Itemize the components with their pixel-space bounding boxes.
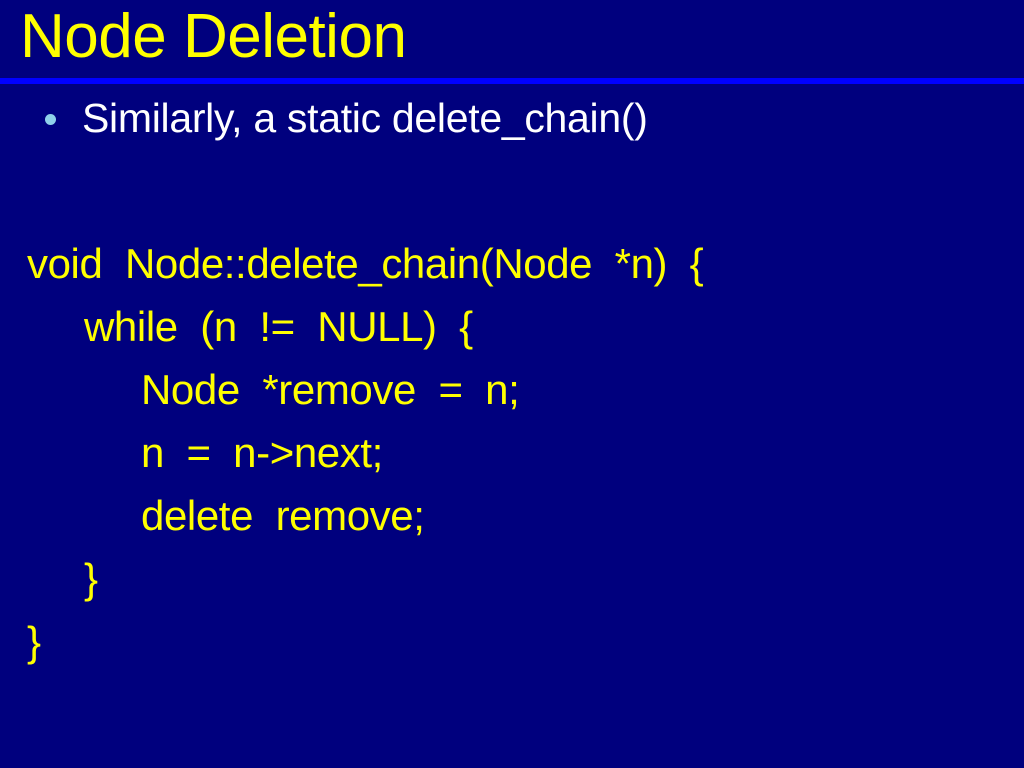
slide-title-block: Node Deletion [0,0,1024,78]
title-divider-rule [0,78,1024,84]
code-line: delete remove; [0,484,1024,547]
page-title: Node Deletion [20,0,406,76]
bullet-text: Similarly, a static delete_chain() [82,92,1024,144]
slide-canvas: Node Deletion Similarly, a static delete… [0,0,1024,768]
slide-body: Similarly, a static delete_chain() [0,92,1024,144]
code-line: } [0,610,1024,673]
list-item: Similarly, a static delete_chain() [0,92,1024,144]
code-line: while (n != NULL) { [0,295,1024,358]
disc-bullet-icon [45,114,56,125]
code-line: n = n->next; [0,421,1024,484]
code-block: void Node::delete_chain(Node *n) { while… [0,232,1024,673]
code-line: } [0,547,1024,610]
code-line: Node *remove = n; [0,358,1024,421]
code-line: void Node::delete_chain(Node *n) { [0,232,1024,295]
